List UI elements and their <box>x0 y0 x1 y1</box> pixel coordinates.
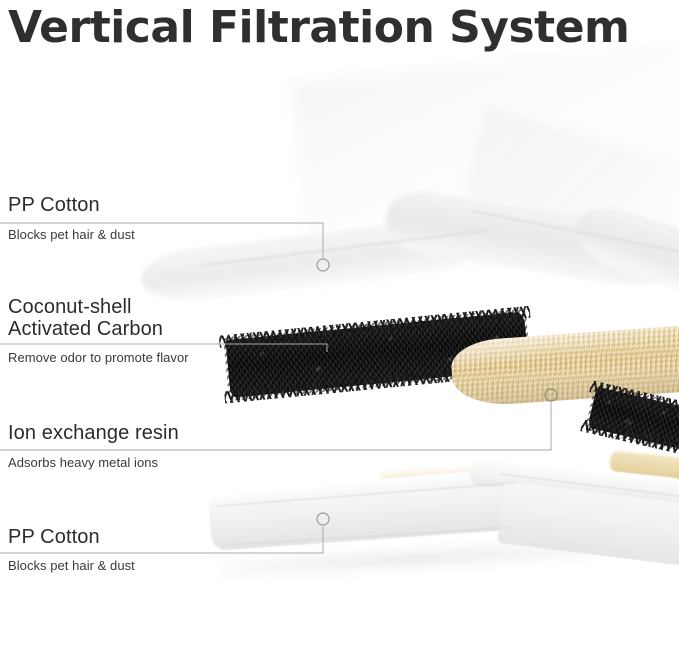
filtration-diagram: Vertical Filtration System PP Cotton Blo… <box>0 0 679 648</box>
callout-description: Blocks pet hair & dust <box>8 558 135 573</box>
callout-pp-cotton-bottom: PP Cotton <box>8 526 100 548</box>
ion-exchange-resin-beads-image <box>450 325 679 408</box>
callout-pp-cotton-bottom-description: Blocks pet hair & dust <box>8 558 135 573</box>
ion-exchange-resin-strip-right <box>609 450 679 481</box>
page-title: Vertical Filtration System <box>8 2 629 53</box>
pp-cotton-pad-top-image <box>140 225 679 345</box>
callout-heading-line-2: Activated Carbon <box>8 318 163 340</box>
callout-description: Blocks pet hair & dust <box>8 227 135 242</box>
pp-cotton-pad-bottom-image <box>180 462 679 592</box>
ion-exchange-resin-strip-lower <box>380 467 501 489</box>
callout-activated-carbon-description: Remove odor to promote flavor <box>8 350 189 365</box>
callout-pp-cotton-top: PP Cotton <box>8 194 100 216</box>
callout-activated-carbon: Coconut-shell Activated Carbon <box>8 296 163 341</box>
callout-heading: PP Cotton <box>8 526 100 548</box>
callout-description: Adsorbs heavy metal ions <box>8 455 158 470</box>
activated-carbon-granules-image-secondary <box>587 387 679 457</box>
background-sheen-upper <box>290 38 679 292</box>
background-sheen-upper-right <box>463 106 679 264</box>
callout-heading-line-1: Coconut-shell <box>8 296 163 318</box>
activated-carbon-granules-image <box>225 311 529 397</box>
callout-pp-cotton-top-description: Blocks pet hair & dust <box>8 227 135 242</box>
callout-description: Remove odor to promote flavor <box>8 350 189 365</box>
callout-ion-exchange-resin: Ion exchange resin <box>8 422 179 444</box>
callout-heading: PP Cotton <box>8 194 100 216</box>
callout-ion-exchange-resin-description: Adsorbs heavy metal ions <box>8 455 158 470</box>
callout-heading: Ion exchange resin <box>8 422 179 444</box>
